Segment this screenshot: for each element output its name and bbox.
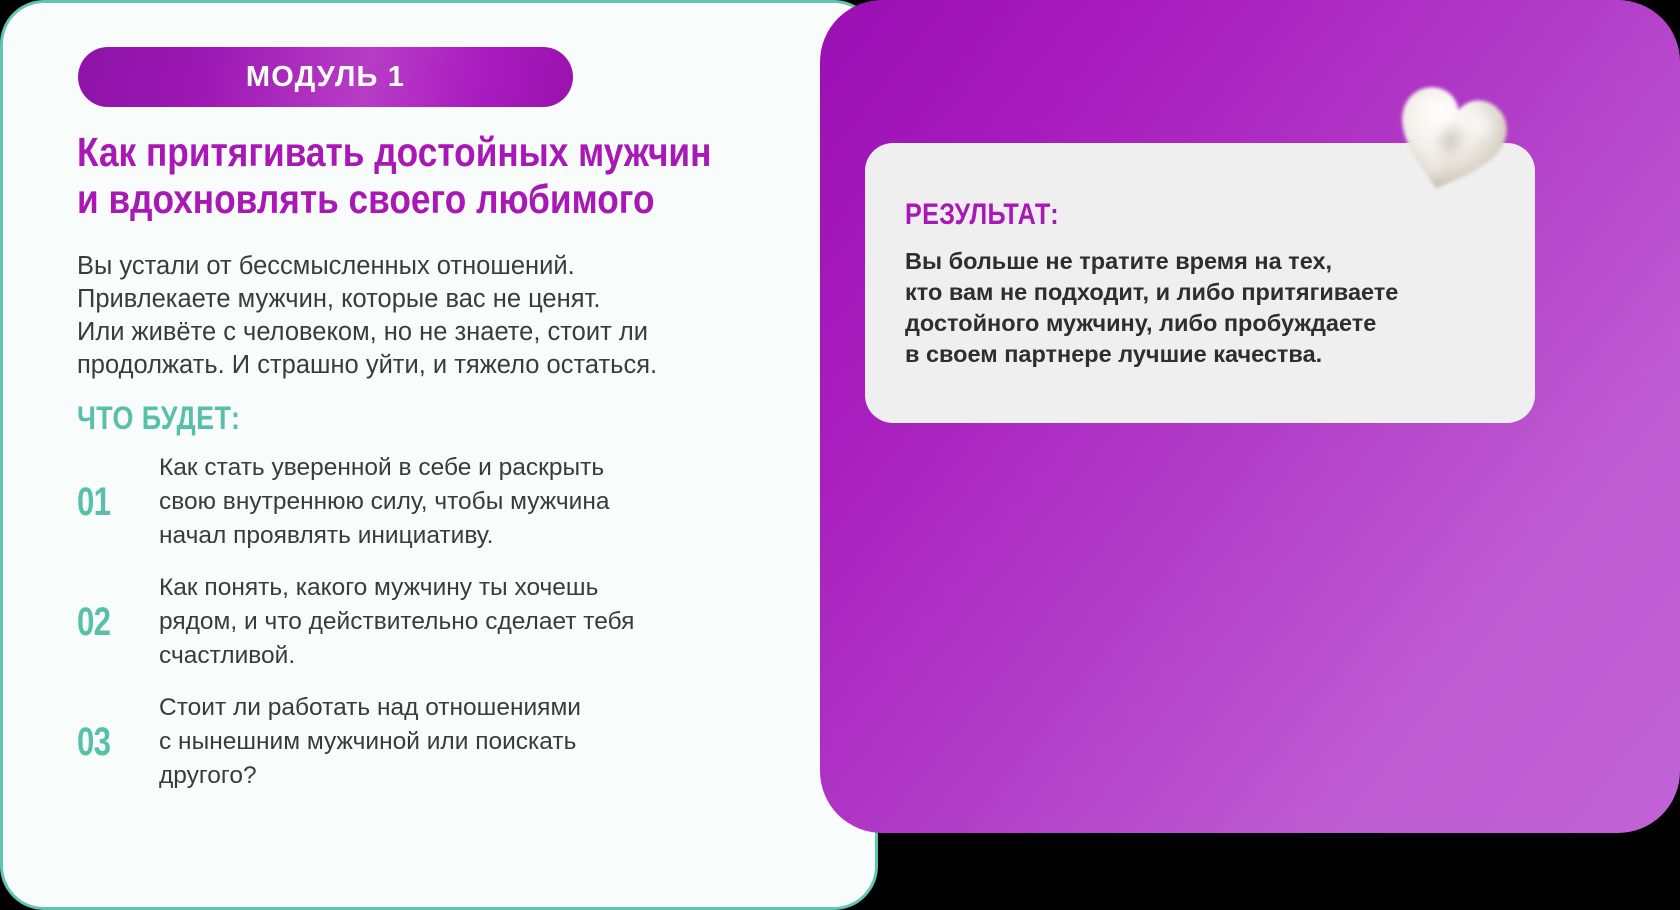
- result-title: РЕЗУЛЬТАТ:: [905, 198, 1059, 232]
- list-item: 01 Как стать уверенной в себе и раскрыть…: [77, 451, 797, 553]
- left-content-card: МОДУЛЬ 1 Как притягивать достойных мужчи…: [0, 0, 878, 910]
- result-line-3: достойного мужчину, либо пробуждаете: [905, 308, 1515, 339]
- slide-root: МОДУЛЬ 1 Как притягивать достойных мужчи…: [0, 0, 1680, 910]
- intro-line-1: Вы устали от бессмысленных отношений.: [77, 250, 817, 283]
- list-item-line: Как стать уверенной в себе и раскрыть: [159, 451, 797, 485]
- headline-line-1: Как притягивать достойных мужчин: [77, 129, 696, 176]
- result-line-4: в своем партнере лучшие качества.: [905, 339, 1515, 370]
- module-badge-label: МОДУЛЬ 1: [246, 61, 405, 94]
- intro-line-2: Привлекаете мужчин, которые вас не ценят…: [77, 283, 817, 316]
- list-item-number: 03: [77, 722, 141, 762]
- what-will-be-title: ЧТО БУДЕТ:: [77, 400, 240, 436]
- intro-line-3: Или живёте с человеком, но не знаете, ст…: [77, 316, 817, 349]
- list-item-line: рядом, и что действительно сделает тебя: [159, 605, 797, 639]
- list-item-line: Как понять, какого мужчину ты хочешь: [159, 571, 797, 605]
- result-line-1: Вы больше не тратите время на тех,: [905, 246, 1515, 277]
- result-card: РЕЗУЛЬТАТ: Вы больше не тратите время на…: [865, 143, 1535, 423]
- intro-line-4: продолжать. И страшно уйти, и тяжело ост…: [77, 349, 817, 382]
- result-line-2: кто вам не подходит, и либо притягиваете: [905, 277, 1515, 308]
- headline-line-2: и вдохновлять своего любимого: [77, 176, 696, 223]
- result-body: Вы больше не тратите время на тех, кто в…: [905, 246, 1515, 370]
- list-item-number: 01: [77, 482, 141, 522]
- list-item-line: с нынешним мужчиной или поискать: [159, 725, 797, 759]
- list-item-line: Стоит ли работать над отношениями: [159, 691, 797, 725]
- list-item-line: другого?: [159, 759, 797, 793]
- intro-paragraph: Вы устали от бессмысленных отношений. Пр…: [77, 250, 817, 382]
- headline: Как притягивать достойных мужчин и вдохн…: [77, 129, 696, 223]
- module-badge: МОДУЛЬ 1: [78, 47, 573, 107]
- list-item-line: свою внутреннюю силу, чтобы мужчина: [159, 485, 797, 519]
- list-item-line: счастливой.: [159, 639, 797, 673]
- list-item-line: начал проявлять инициативу.: [159, 519, 797, 553]
- list-item: 02 Как понять, какого мужчину ты хочешь …: [77, 571, 797, 673]
- benefits-list: 01 Как стать уверенной в себе и раскрыть…: [77, 451, 797, 793]
- list-item-text: Стоит ли работать над отношениями с ныне…: [159, 691, 797, 793]
- list-item-text: Как стать уверенной в себе и раскрыть св…: [159, 451, 797, 553]
- list-item: 03 Стоит ли работать над отношениями с н…: [77, 691, 797, 793]
- list-item-text: Как понять, какого мужчину ты хочешь ряд…: [159, 571, 797, 673]
- list-item-number: 02: [77, 602, 141, 642]
